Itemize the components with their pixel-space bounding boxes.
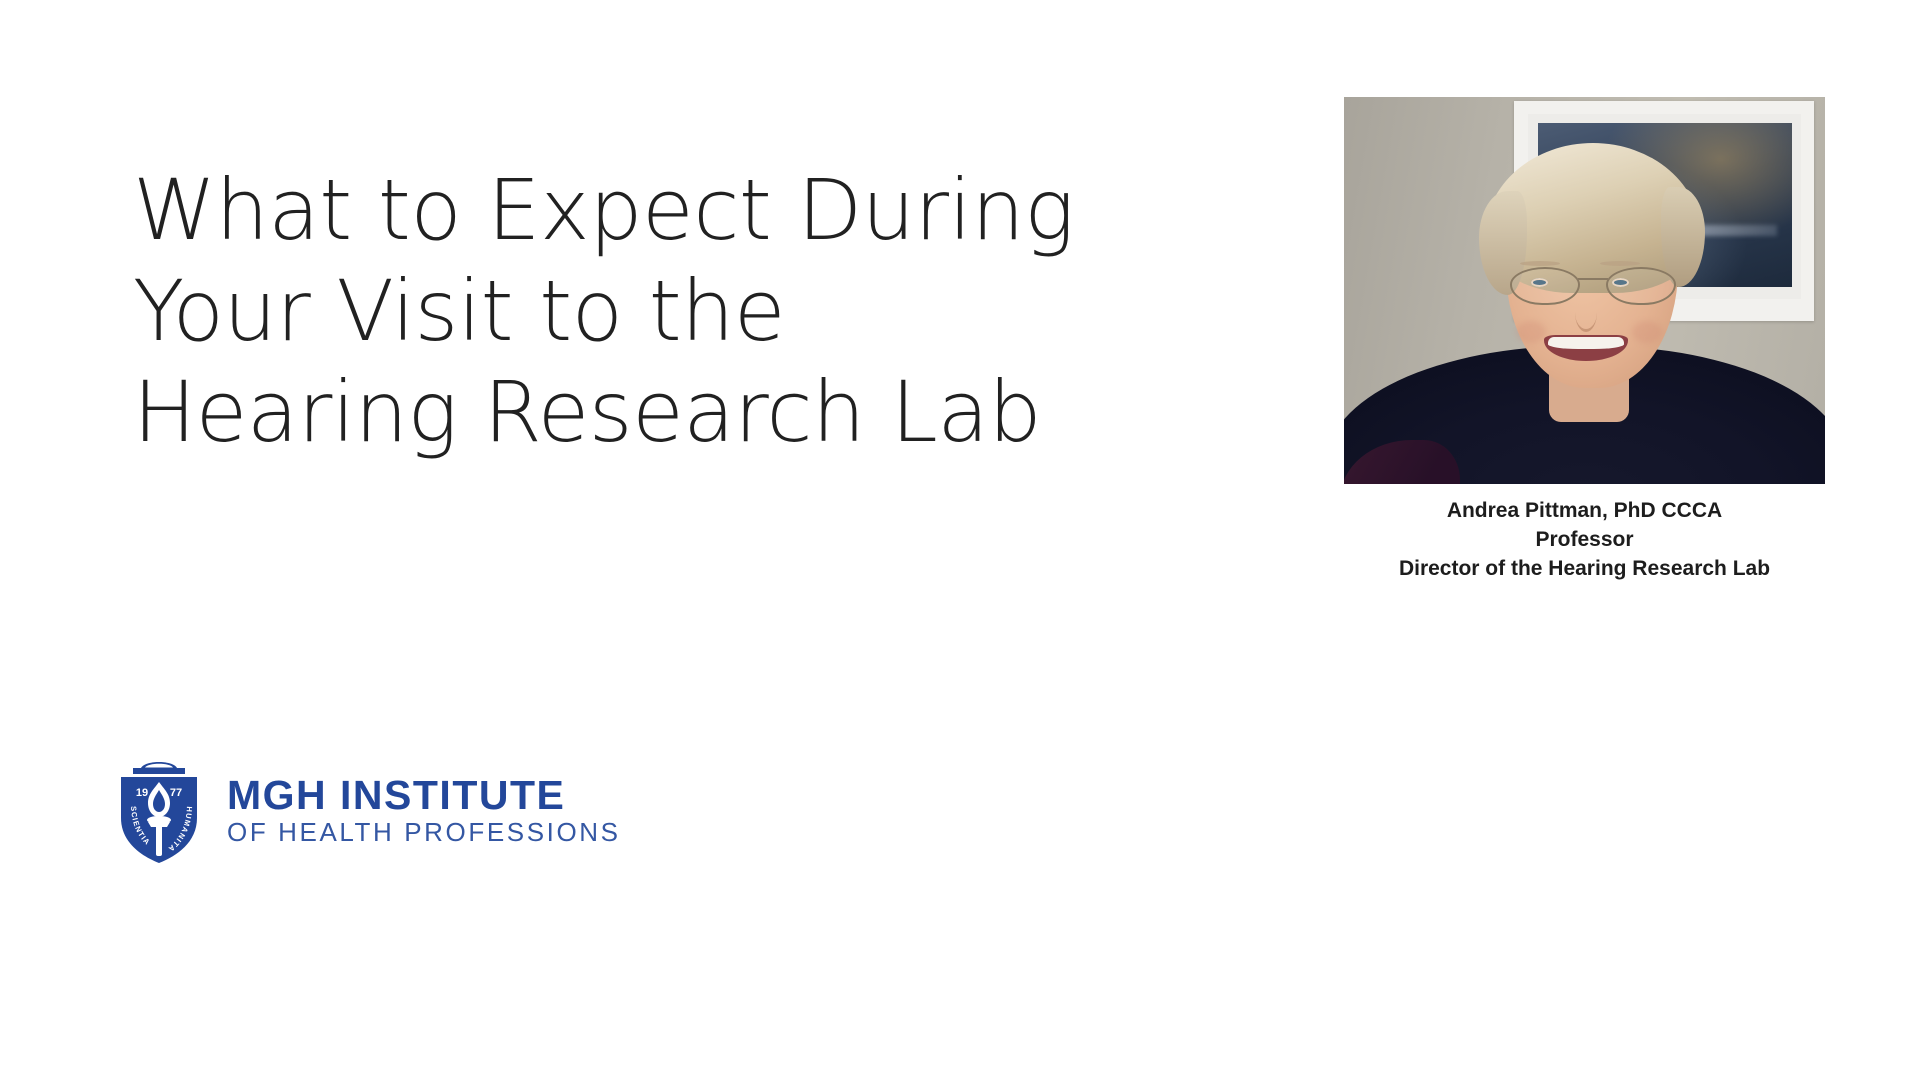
title-slide: What to Expect During Your Visit to the … [0, 0, 1920, 1080]
presenter-photo-image [1344, 97, 1825, 484]
logo-wordmark-line-2: OF HEALTH PROFESSIONS [227, 817, 621, 847]
presenter-nose [1575, 293, 1597, 332]
eyeglass-lens-left [1510, 267, 1580, 305]
logo-wordmark: MGH INSTITUTE OF HEALTH PROFESSIONS [227, 773, 621, 847]
shield-year-left-text: 19 [136, 787, 148, 799]
jacket-accent [1344, 440, 1460, 484]
title-line-1: What to Expect During [133, 160, 1213, 261]
presenter-name: Andrea Pittman, PhD CCCA [1344, 496, 1825, 525]
page-title: What to Expect During Your Visit to the … [133, 160, 1213, 463]
eyebrow-right [1600, 261, 1640, 266]
presenter-teeth [1548, 337, 1624, 349]
mgh-institute-logo: 19 77 SCIENTIA HUMANITAS MGH INSTITUTE O… [115, 756, 621, 864]
eyeglass-lens-right [1606, 267, 1676, 305]
eyeglass-bridge [1578, 278, 1608, 280]
shield-crest-icon: 19 77 SCIENTIA HUMANITAS [115, 756, 203, 864]
presenter-photo [1344, 97, 1825, 484]
presenter-role: Director of the Hearing Research Lab [1344, 554, 1825, 583]
shield-year-right-text: 77 [170, 787, 182, 799]
title-line-2: Your Visit to the [133, 261, 1213, 362]
cheek-left [1516, 321, 1546, 343]
presenter-caption: Andrea Pittman, PhD CCCA Professor Direc… [1344, 496, 1825, 583]
title-line-3: Hearing Research Lab [133, 362, 1213, 463]
eyebrow-left [1520, 261, 1560, 266]
logo-wordmark-line-1: MGH INSTITUTE [227, 773, 621, 817]
presenter-title: Professor [1344, 525, 1825, 554]
cheek-right [1632, 321, 1662, 343]
